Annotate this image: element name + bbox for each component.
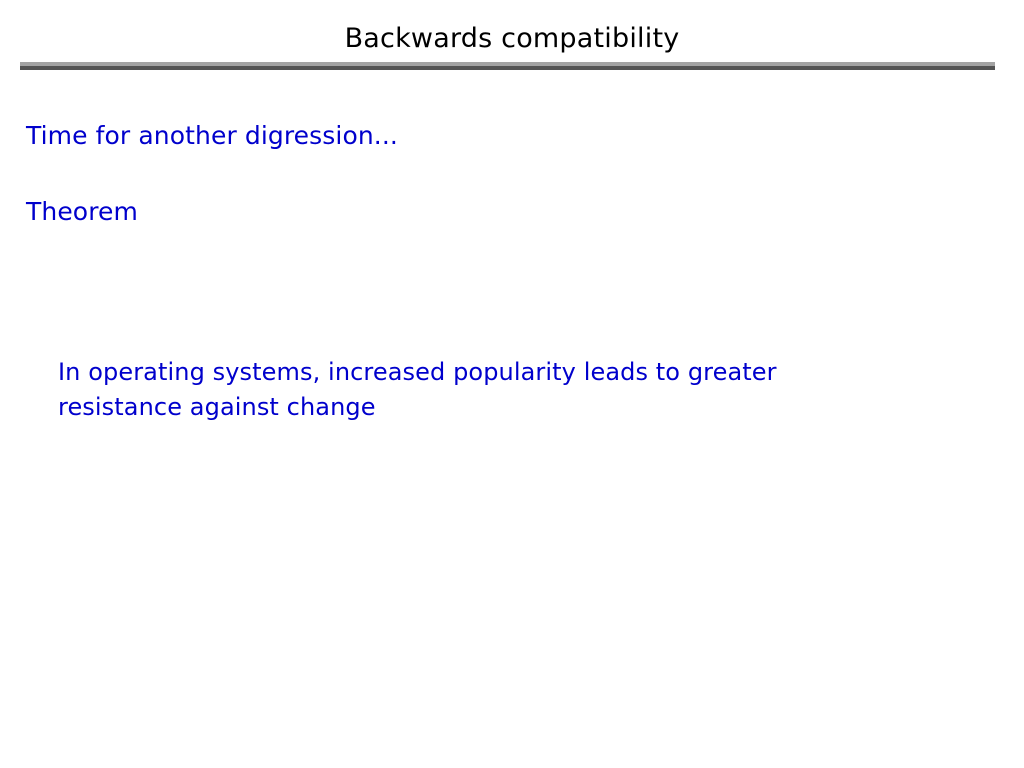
theorem-heading: Theorem [26, 196, 138, 228]
theorem-statement-line: In operating systems, increased populari… [58, 355, 888, 390]
theorem-statement: In operating systems, increased populari… [58, 355, 888, 425]
divider-shadow [20, 66, 995, 70]
theorem-statement-line: resistance against change [58, 390, 888, 425]
digression-heading: Time for another digression... [26, 120, 398, 152]
page-title: Backwards compatibility [0, 22, 1024, 56]
title-divider [20, 62, 995, 70]
presentation-slide: Backwards compatibility Time for another… [0, 0, 1024, 768]
